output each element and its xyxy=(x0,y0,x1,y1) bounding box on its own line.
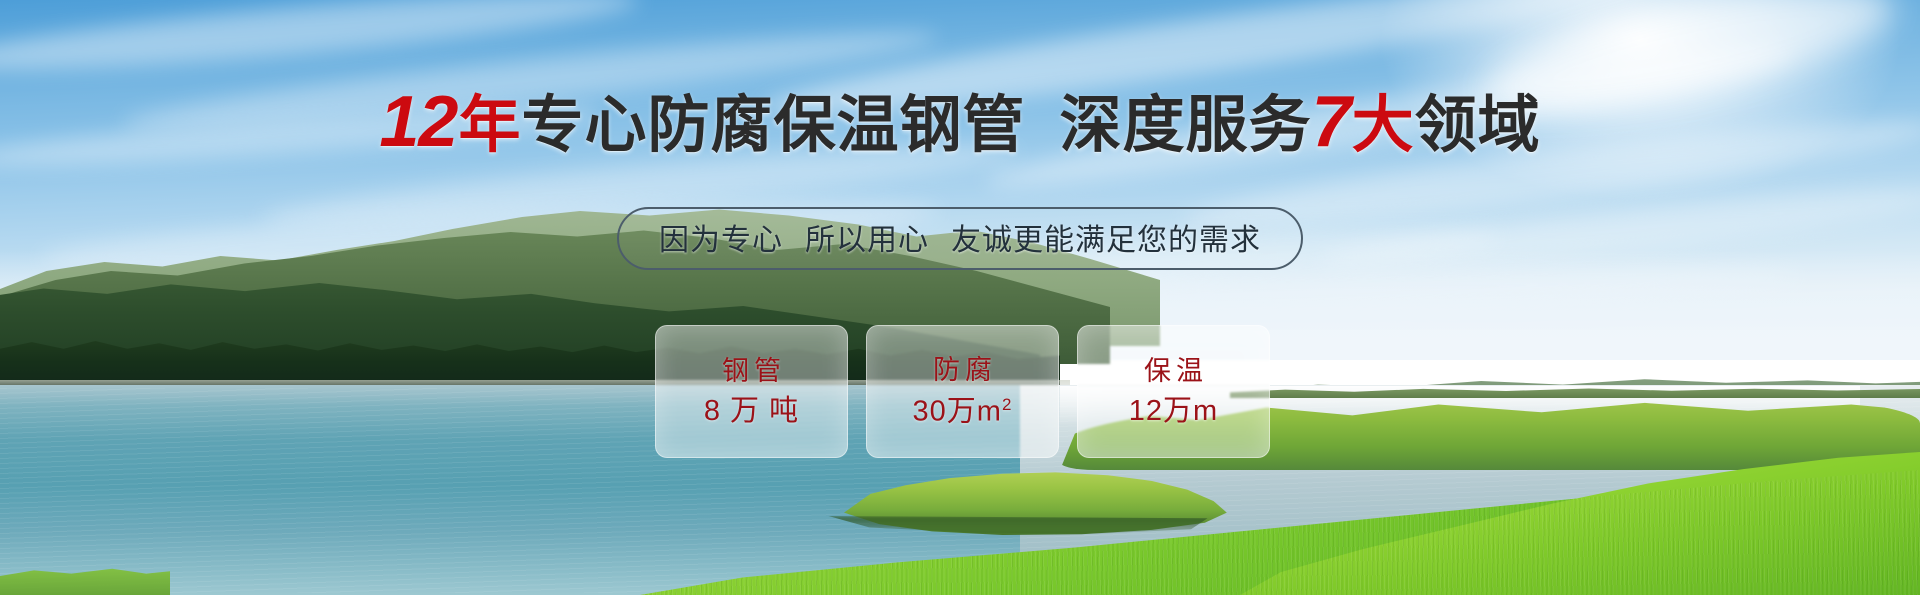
headline-fields-number: 7 xyxy=(1312,82,1351,162)
stat-label-steel-pipe: 钢管 xyxy=(717,358,786,385)
stat-value-anticorrosion: 30万m2 xyxy=(913,396,1013,427)
subtitle-part-3: 友诚更能满足您的需求 xyxy=(951,224,1261,257)
subtitle-part-1: 因为专心 xyxy=(659,224,783,257)
stat-card-insulation: 保温 12万m xyxy=(1077,325,1270,458)
stat-card-anticorrosion: 防腐 30万m2 xyxy=(866,325,1059,458)
stat-value-anticorrosion-main: 30万m xyxy=(913,395,1002,427)
stat-label-insulation: 保温 xyxy=(1139,358,1208,385)
headline-fields-da: 大 xyxy=(1352,91,1415,160)
headline-fields-suffix: 领域 xyxy=(1415,91,1541,160)
banner-subtitle-pill: 因为专心所以用心友诚更能满足您的需求 xyxy=(617,207,1303,270)
headline-years-number: 12 xyxy=(379,82,457,162)
stat-label-anticorrosion: 防腐 xyxy=(928,357,997,384)
headline-main-text: 专心防腐保温钢管 xyxy=(522,91,1026,160)
banner-headline: 12年专心防腐保温钢管深度服务7大领域 xyxy=(0,86,1920,158)
banner-subtitle-wrap: 因为专心所以用心友诚更能满足您的需求 xyxy=(0,207,1920,270)
stat-card-group: 钢管 8 万 吨 防腐 30万m2 保温 12万m xyxy=(655,325,1270,458)
stat-value-anticorrosion-sup: 2 xyxy=(1002,395,1012,414)
stat-value-steel-pipe: 8 万 吨 xyxy=(704,397,799,426)
headline-service-text: 深度服务 xyxy=(1060,91,1312,160)
stat-value-insulation: 12万m xyxy=(1129,397,1218,426)
stat-card-steel-pipe: 钢管 8 万 吨 xyxy=(655,325,848,458)
subtitle-part-2: 所以用心 xyxy=(805,224,929,257)
headline-years-unit: 年 xyxy=(458,91,521,160)
promo-banner: 12年专心防腐保温钢管深度服务7大领域 因为专心所以用心友诚更能满足您的需求 钢… xyxy=(0,0,1920,595)
